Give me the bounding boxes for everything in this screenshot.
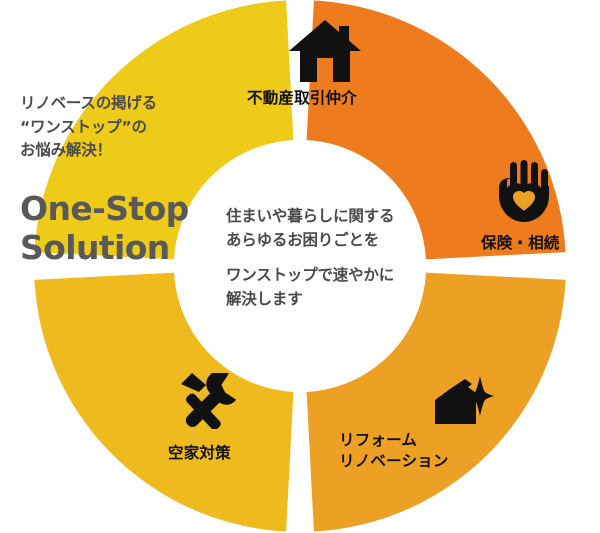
segment-label-real-estate-line-1: 不動産取引仲介 bbox=[247, 88, 357, 109]
page-title: One-Stop Solution bbox=[20, 190, 250, 267]
segment-label-reform-line-2: リノベーション bbox=[339, 451, 449, 472]
center-paragraph-2: ワンストップで速やかに 解決します bbox=[226, 263, 461, 311]
infographic-canvas: リノベースの掲げる “ワンストップ”の お悩み解決！ One-Stop Solu… bbox=[0, 0, 600, 533]
center-p1-line-1: 住まいや暮らしに関する bbox=[226, 204, 461, 228]
donut-segment-reform[interactable] bbox=[34, 273, 293, 532]
page-title-line-1: One-Stop bbox=[20, 190, 250, 229]
segment-label-real-estate: 不動産取引仲介 bbox=[247, 88, 357, 109]
segment-label-akiya-line-1: 空家対策 bbox=[168, 443, 231, 464]
segment-label-reform: リフォーム リノベーション bbox=[339, 430, 449, 472]
center-description: 住まいや暮らしに関する あらゆるお困りごとを ワンストップで速やかに 解決します bbox=[226, 204, 461, 311]
hand-heart-icon bbox=[497, 160, 551, 222]
lede-text-block: リノベースの掲げる “ワンストップ”の お悩み解決！ bbox=[20, 92, 225, 163]
page-title-line-2: Solution bbox=[20, 229, 250, 268]
lede-line-1: リノベースの掲げる bbox=[20, 92, 225, 116]
segment-label-akiya: 空家対策 bbox=[168, 443, 231, 464]
lede-paragraph: リノベースの掲げる “ワンストップ”の お悩み解決！ bbox=[20, 92, 225, 163]
hammer-wrench-icon bbox=[179, 373, 243, 429]
center-p2-line-2: 解決します bbox=[226, 287, 461, 311]
house-sparkle-icon bbox=[432, 376, 494, 428]
segment-label-reform-line-1: リフォーム bbox=[339, 430, 449, 451]
center-p1-line-2: あらゆるお困りごとを bbox=[226, 228, 461, 252]
center-paragraph-1: 住まいや暮らしに関する あらゆるお困りごとを bbox=[226, 204, 461, 252]
segment-label-insurance-line-1: 保険・相続 bbox=[481, 233, 560, 254]
center-p2-line-1: ワンストップで速やかに bbox=[226, 263, 461, 287]
lede-line-2: “ワンストップ”の bbox=[20, 116, 225, 140]
house-icon bbox=[289, 20, 361, 82]
segment-label-insurance: 保険・相続 bbox=[481, 233, 560, 254]
lede-line-3: お悩み解決！ bbox=[20, 139, 225, 163]
